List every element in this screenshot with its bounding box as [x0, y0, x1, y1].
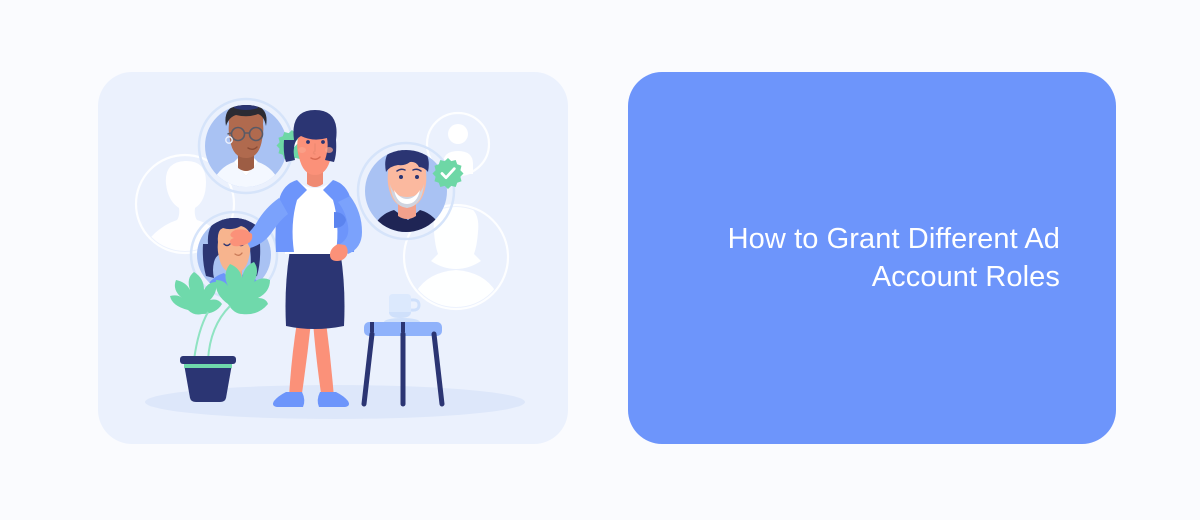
ad-account-roles-illustration — [98, 72, 568, 444]
plant-pot — [184, 364, 232, 402]
article-title-card[interactable]: How to Grant Different Ad Account Roles — [628, 72, 1116, 444]
page-canvas: How to Grant Different Ad Account Roles — [0, 0, 1200, 520]
plant-pot-rim — [180, 356, 236, 364]
page-title: How to Grant Different Ad Account Roles — [676, 220, 1060, 297]
skirt — [286, 250, 345, 329]
user-head-icon — [448, 124, 468, 144]
coffee-cup-icon — [384, 294, 420, 326]
illustration-card — [98, 72, 568, 444]
potted-plant — [170, 262, 270, 402]
